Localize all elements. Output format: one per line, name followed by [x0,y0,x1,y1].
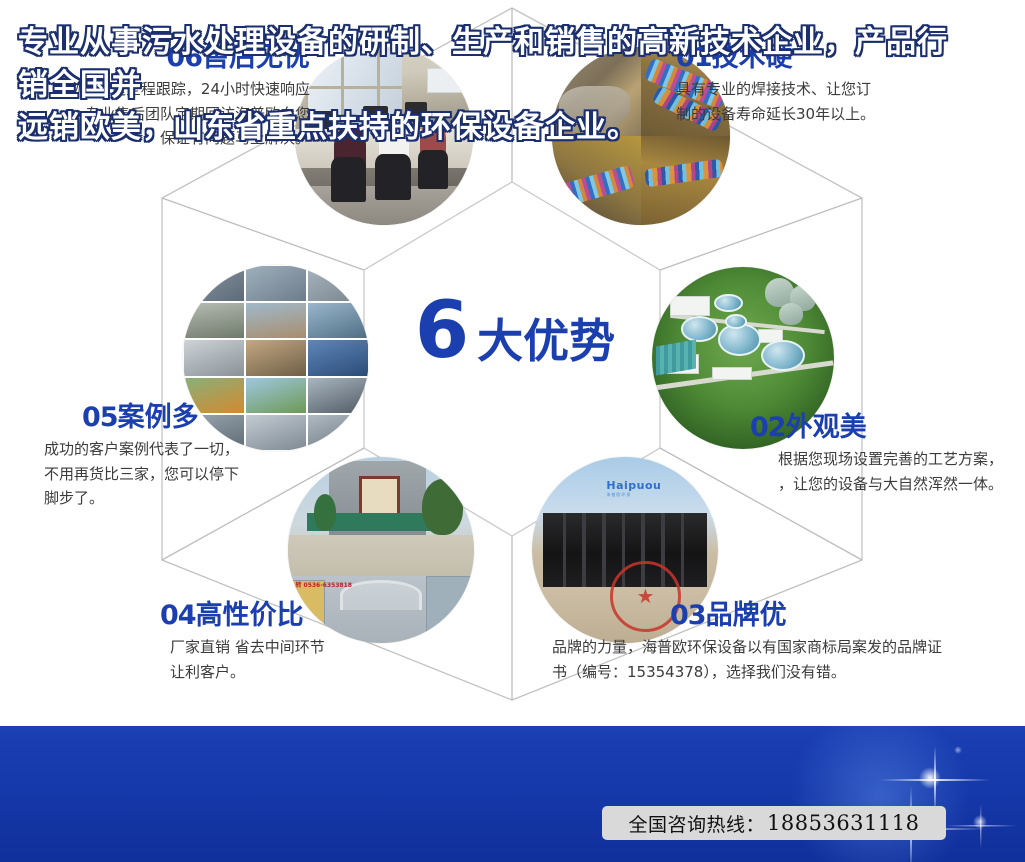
feature-number-03: 03 [670,600,706,631]
hotline-number: 18853631118 [767,811,919,835]
feature-body-03: 品牌的力量，海普欧环保设备以有国家商标局案发的品牌证 书（编号：15354378… [552,635,980,684]
center-label: 大优势 [477,318,615,364]
feature-body-04: 厂家直销 省去中间环节 让利客户。 [170,635,480,684]
sparkle-icon [946,804,1016,848]
hotline-box[interactable]: 全国咨询热线：18853631118 [602,806,946,840]
feature-body-line: 成功的客户案例代表了一切， [44,437,342,461]
feature-body-line: 书（编号：15354378），选择我们没有错。 [552,660,980,684]
feature-body-line: 让利客户。 [170,660,480,684]
sparkle-icon [880,746,990,814]
feature-number-05: 05 [82,402,118,433]
feature-cases: 05案例多 成功的客户案例代表了一切， 不用再货比三家，您可以停下 脚步了。 [42,404,342,510]
feature-body-line: 品牌的力量，海普欧环保设备以有国家商标局案发的品牌证 [552,635,980,659]
feature-number-02: 02 [750,412,786,443]
feature-title-05: 案例多 [118,402,199,433]
feature-heading-brand: 03品牌优 [670,602,980,630]
center-number: 6 [415,292,467,370]
feature-heading-value: 04高性价比 [160,602,480,630]
feature-title-03: 品牌优 [706,600,787,631]
feature-body-05: 成功的客户案例代表了一切， 不用再货比三家，您可以停下 脚步了。 [44,437,342,510]
feature-appearance: 02外观美 根据您现场设置完善的工艺方案， ，让您的设备与大自然浑然一体。 [750,414,1025,496]
feature-body-line: 脚步了。 [44,486,342,510]
brand-watermark: Haipuou 海普欧环保 [606,479,661,498]
feature-body-line: ，让您的设备与大自然浑然一体。 [728,472,1003,496]
feature-heading-appearance: 02外观美 [750,414,1025,442]
banner-slogan: 专业从事污水处理设备的研制、生产和销售的高新技术企业，产品行销全国并 远销欧美，… [18,22,958,150]
bottom-banner [0,726,1025,862]
banner-slogan-line1: 专业从事污水处理设备的研制、生产和销售的高新技术企业，产品行销全国并 [18,22,958,107]
feature-body-02: 根据您现场设置完善的工艺方案， ，让您的设备与大自然浑然一体。 [728,447,1003,496]
feature-heading-cases: 05案例多 [82,404,342,432]
hotline-label: 全国咨询热线： [629,810,766,837]
center-title: 6 大优势 [385,292,645,372]
feature-body-line: 不用再货比三家，您可以停下 [44,462,342,486]
banner-slogan-line2: 远销欧美，山东省重点扶持的环保设备企业。 [18,107,958,150]
feature-body-line: 根据您现场设置完善的工艺方案， [728,447,1003,471]
feature-brand: 03品牌优 品牌的力量，海普欧环保设备以有国家商标局案发的品牌证 书（编号：15… [550,602,980,684]
feature-value: 04高性价比 厂家直销 省去中间环节 让利客户。 [160,602,480,684]
feature-number-04: 04 [160,600,196,631]
feature-title-04: 高性价比 [196,600,304,631]
feature-title-02: 外观美 [786,412,867,443]
feature-body-line: 厂家直销 省去中间环节 [170,635,480,659]
